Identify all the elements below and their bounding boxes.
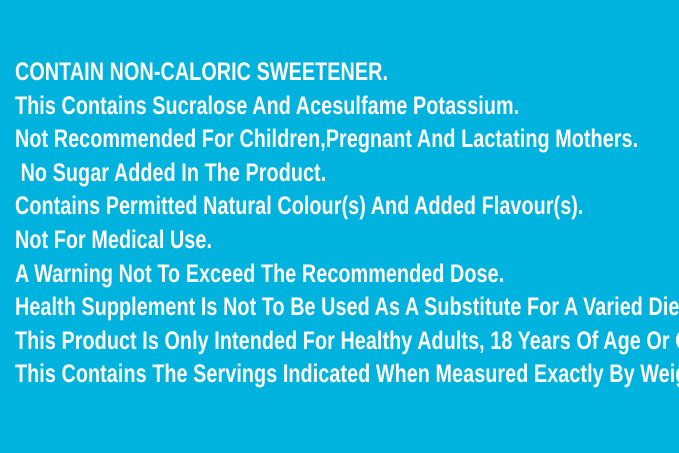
warning-text-block: CONTAIN NON-CALORIC SWEETENER. This Cont… — [15, 56, 675, 392]
warning-line-not-medical-use: Not For Medical Use. — [15, 224, 527, 258]
warning-line-no-sugar-added: No Sugar Added In The Product. — [15, 157, 527, 191]
warning-line-sweetener-composition: This Contains Sucralose And Acesulfame P… — [15, 90, 527, 124]
warning-line-colours-flavours: Contains Permitted Natural Colour(s) And… — [15, 190, 527, 224]
warning-line-not-recommended: Not Recommended For Children,Pregnant An… — [15, 123, 527, 157]
warning-line-servings-by-weight: This Contains The Servings Indicated Whe… — [15, 358, 527, 392]
warning-line-do-not-exceed-dose: A Warning Not To Exceed The Recommended … — [15, 258, 527, 292]
warning-line-heading: CONTAIN NON-CALORIC SWEETENER. — [15, 56, 527, 90]
supplement-label-warning-panel: CONTAIN NON-CALORIC SWEETENER. This Cont… — [0, 0, 679, 453]
warning-line-not-a-diet-substitute: Health Supplement Is Not To Be Used As A… — [15, 291, 527, 325]
warning-line-healthy-adults-age: This Product Is Only Intended For Health… — [15, 325, 527, 359]
